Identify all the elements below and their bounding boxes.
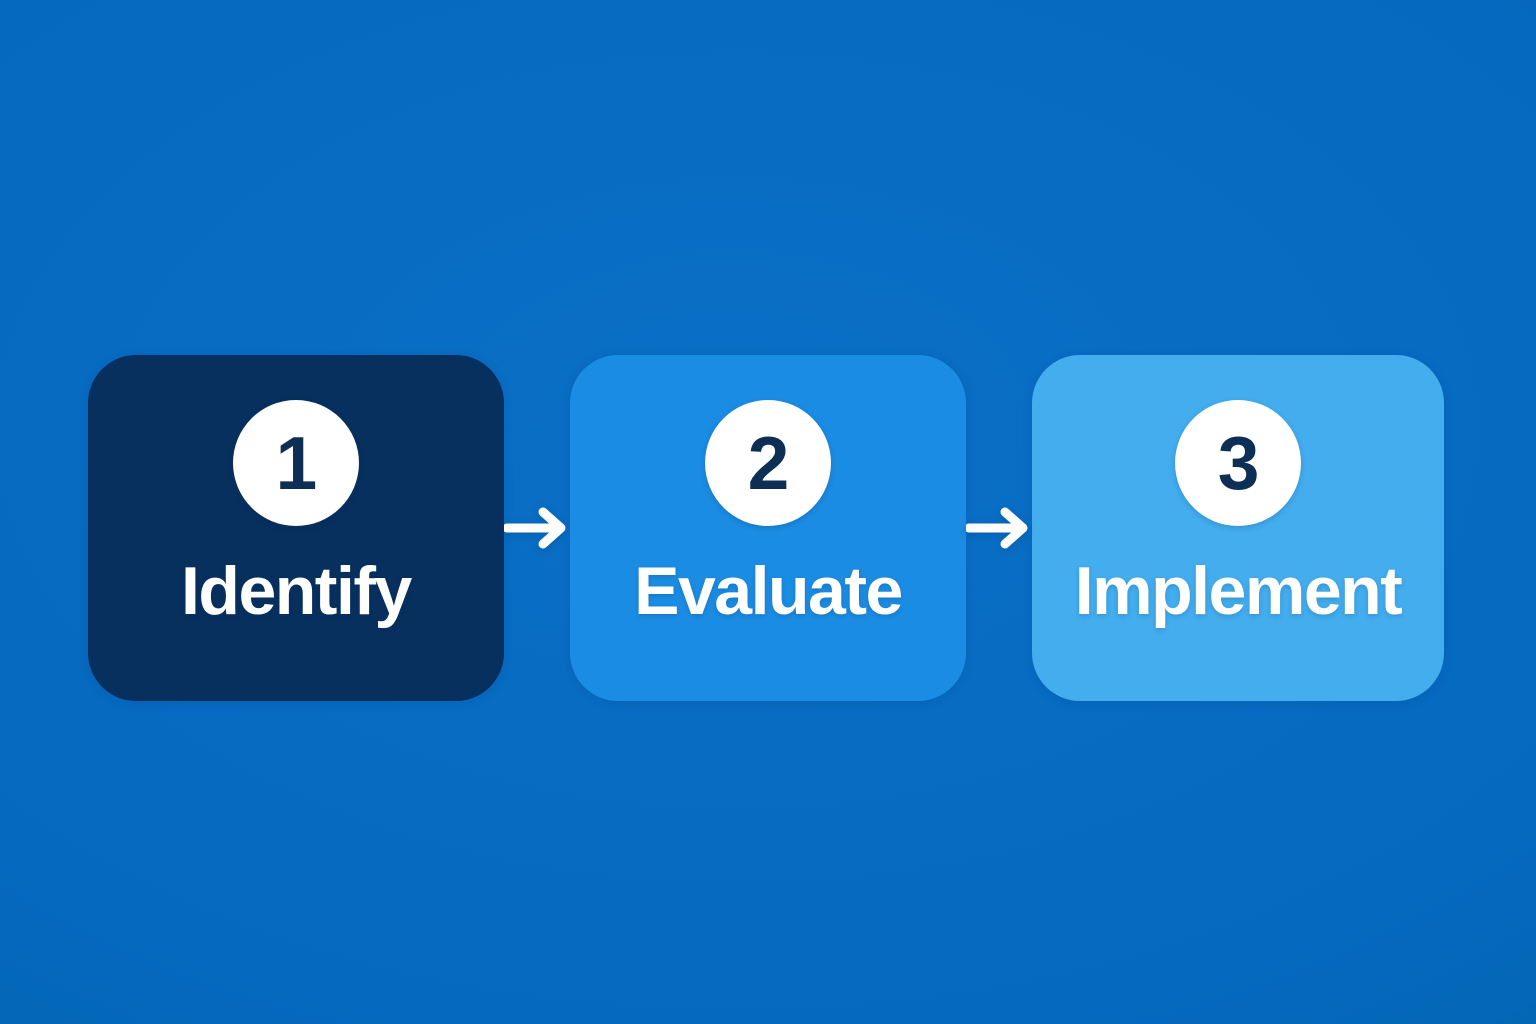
step-number-2: 2 [748, 426, 789, 501]
arrow-right-icon [966, 506, 1032, 550]
connector-1 [504, 355, 570, 701]
step-card-evaluate[interactable]: 2 Evaluate [570, 355, 966, 701]
step-number-3: 3 [1218, 426, 1259, 501]
diagram-canvas: 1 Identify 2 Evaluate [0, 0, 1536, 1024]
step-badge-3: 3 [1175, 400, 1301, 526]
step-card-implement[interactable]: 3 Implement [1032, 355, 1444, 701]
step-label-identify: Identify [181, 556, 411, 627]
arrow-right-icon [504, 506, 570, 550]
connector-2 [966, 355, 1032, 701]
step-label-evaluate: Evaluate [634, 556, 902, 627]
step-card-identify[interactable]: 1 Identify [88, 355, 504, 701]
step-badge-2: 2 [705, 400, 831, 526]
step-label-implement: Implement [1075, 556, 1402, 627]
step-number-1: 1 [276, 426, 317, 501]
process-flow: 1 Identify 2 Evaluate [88, 355, 1444, 701]
step-badge-1: 1 [233, 400, 359, 526]
